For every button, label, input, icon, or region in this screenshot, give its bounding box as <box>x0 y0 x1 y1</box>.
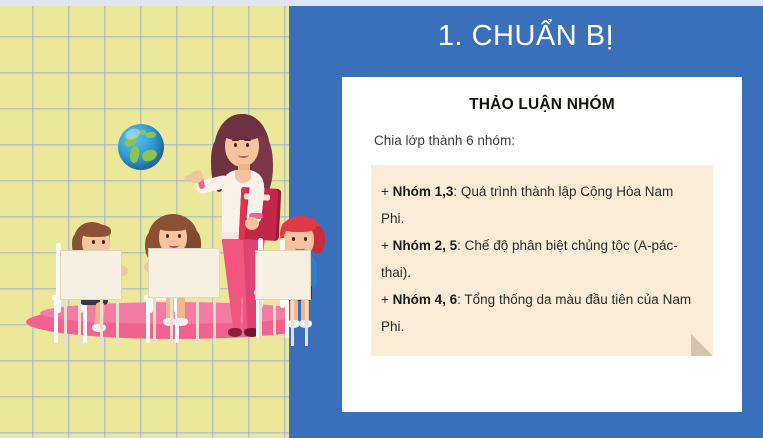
note-item-2: + Nhóm 4, 6: Tổng thống da màu đầu tiên … <box>381 286 697 340</box>
slide-root: 1. CHUẨN BỊ THẢO LUẬN NHÓM Chia lớp thàn… <box>0 0 763 438</box>
note-group-0: Nhóm 1,3 <box>393 184 454 199</box>
note-item-1: + Nhóm 2, 5: Chế độ phân biệt chủng tộc … <box>381 232 697 286</box>
globe-icon <box>118 124 164 170</box>
illustration-panel <box>0 0 289 438</box>
card-heading: THẢO LUẬN NHÓM <box>371 96 713 114</box>
note-fold-corner-icon <box>691 334 713 356</box>
note-group-2: Nhóm 4, 6 <box>393 292 458 307</box>
note-sep-1: : <box>457 238 465 253</box>
page-title: 1. CHUẨN BỊ <box>289 20 763 53</box>
top-edge-strip <box>0 0 763 6</box>
note-box: + Nhóm 1,3: Quá trình thành lập Cộng Hòa… <box>371 165 713 356</box>
desk-middle <box>148 248 220 346</box>
note-item-0: + Nhóm 1,3: Quá trình thành lập Cộng Hòa… <box>381 178 697 232</box>
content-card: THẢO LUẬN NHÓM Chia lớp thành 6 nhóm: + … <box>342 77 742 412</box>
note-prefix-1: + <box>381 238 393 253</box>
desk-left <box>60 250 122 346</box>
note-group-1: Nhóm 2, 5 <box>393 238 458 253</box>
note-prefix-2: + <box>381 292 393 307</box>
note-prefix-0: + <box>381 184 393 199</box>
note-sep-0: : <box>453 184 461 199</box>
desk-right <box>255 250 311 346</box>
card-lead-text: Chia lớp thành 6 nhóm: <box>371 133 713 148</box>
